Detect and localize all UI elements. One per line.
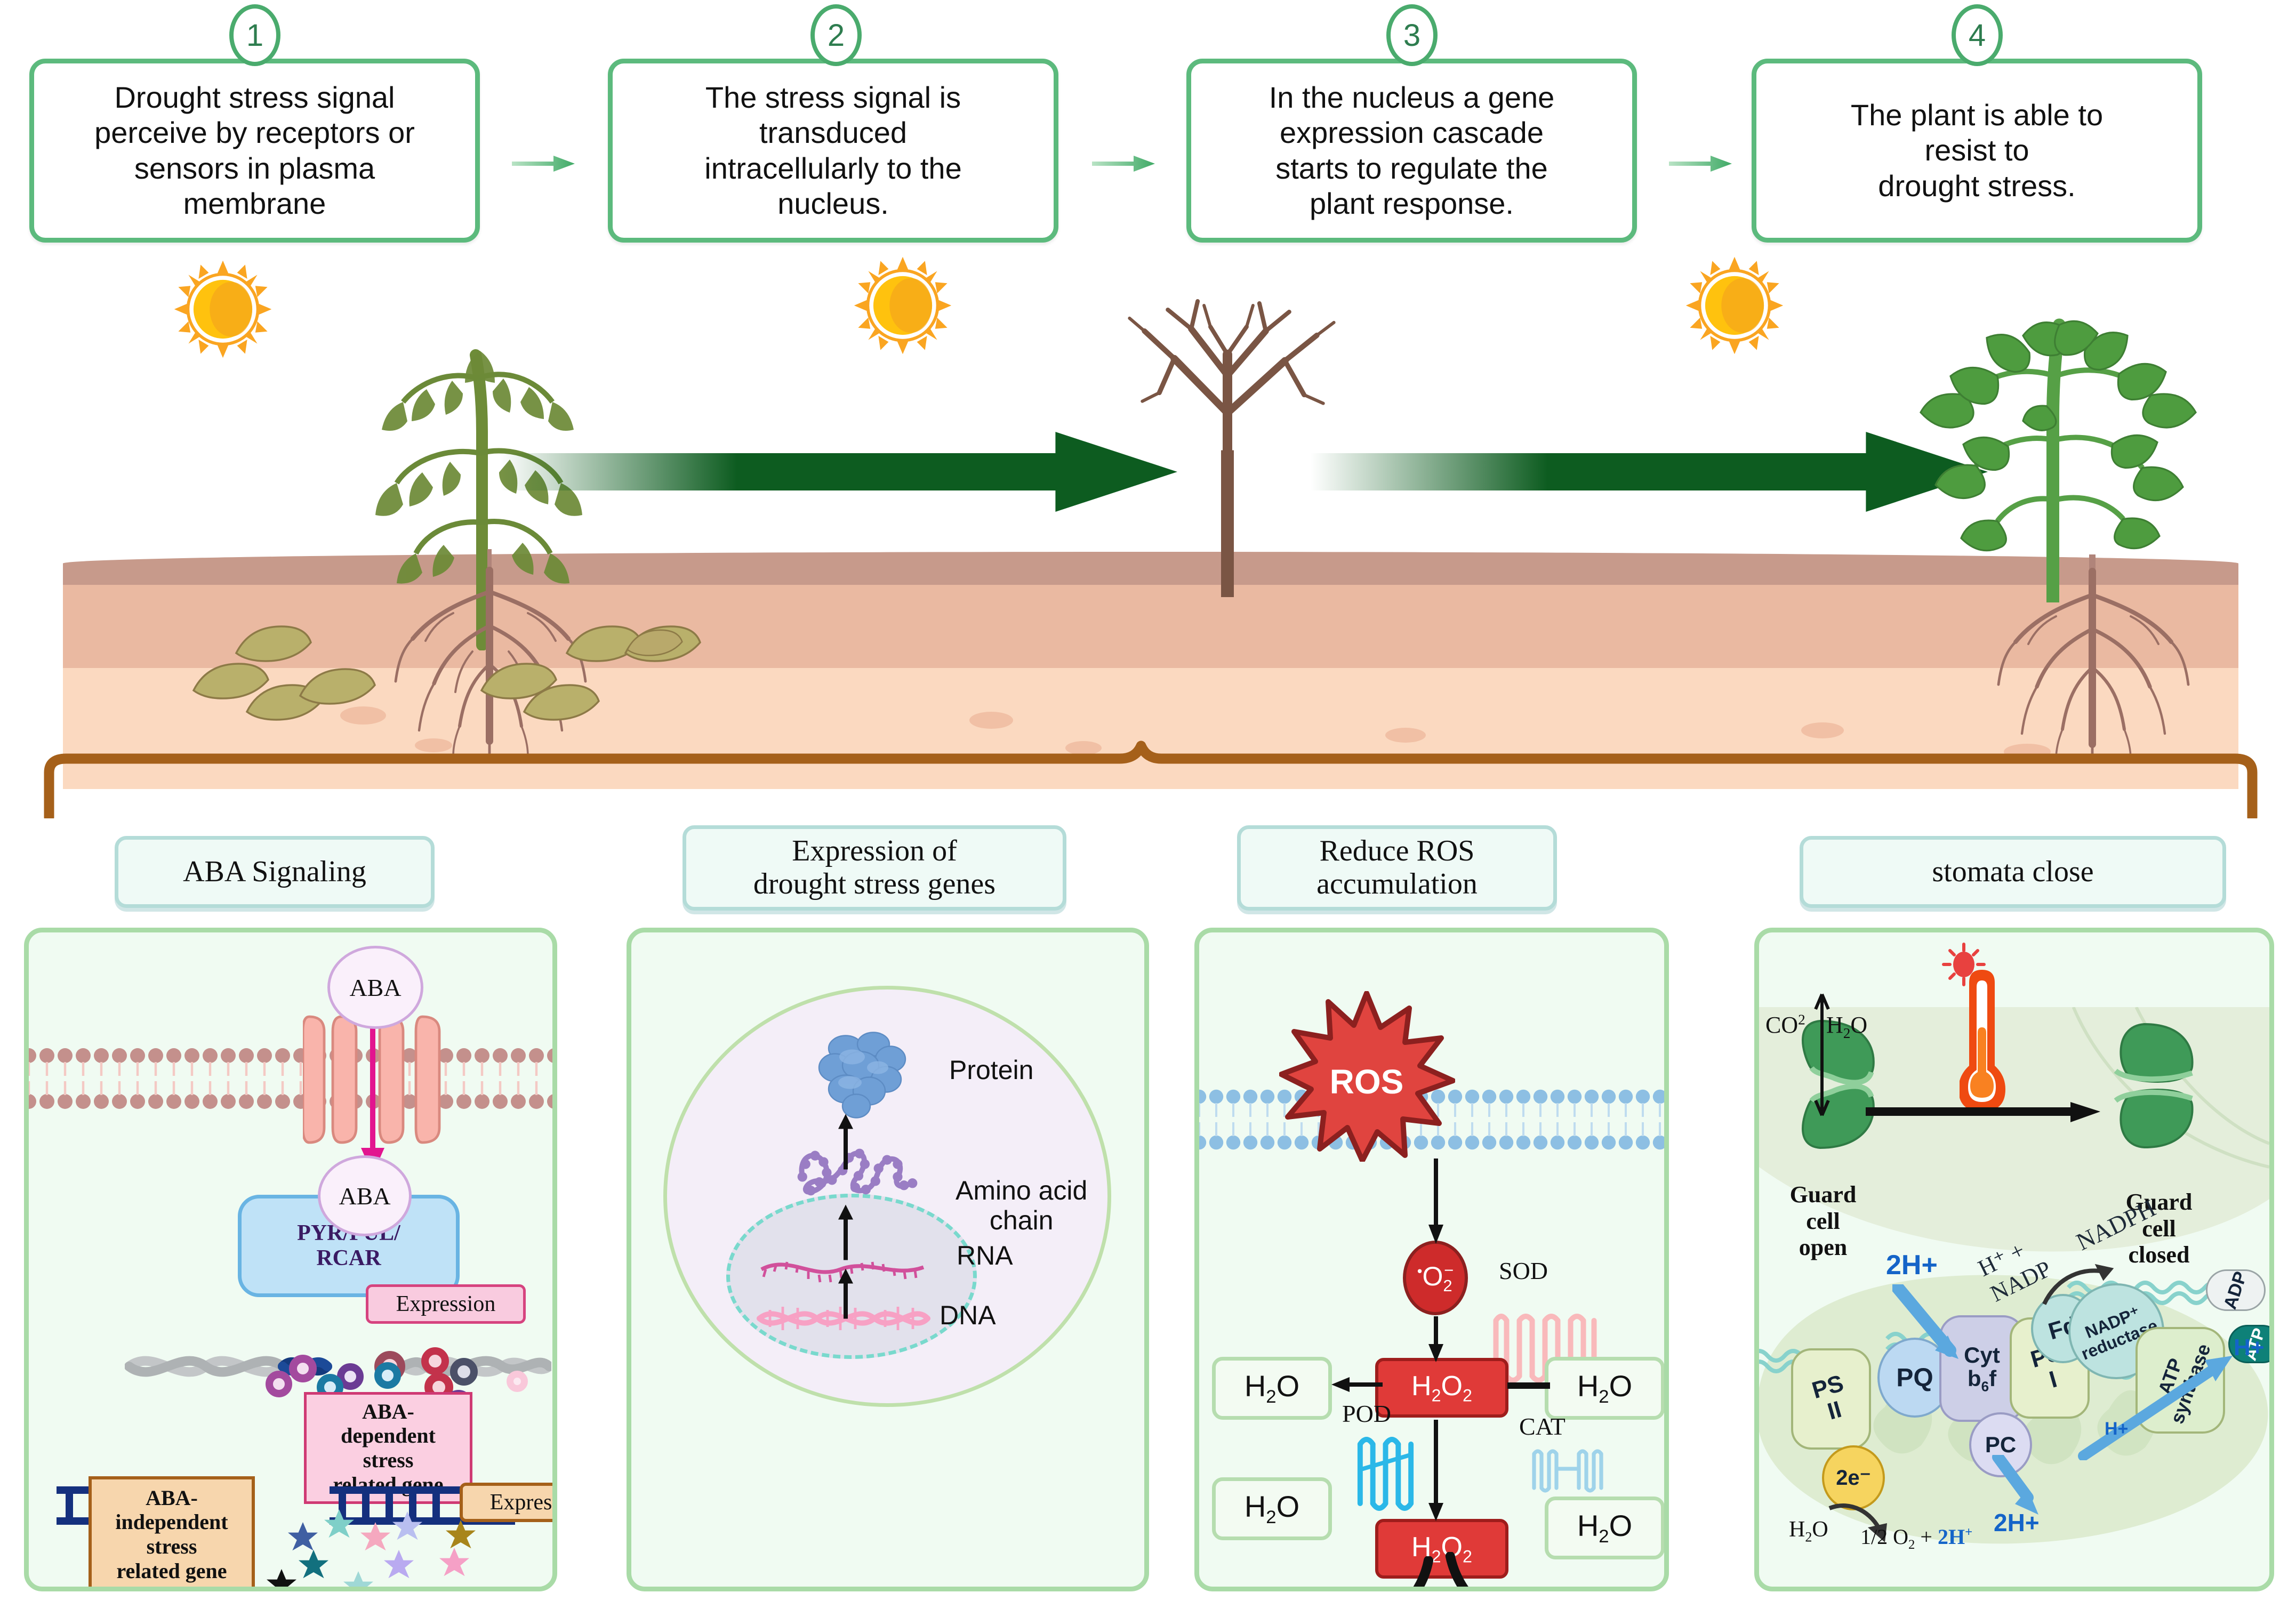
h2o-label: H2O	[1245, 1369, 1299, 1407]
proton-2h-label: 2H+	[1886, 1249, 1938, 1281]
proton-export-arrow	[2077, 1354, 2237, 1460]
cat-enzyme-icon	[1528, 1445, 1613, 1493]
gene-label: ABA- independent stress related gene	[115, 1486, 228, 1583]
panel-title-text: Reduce ROS accumulation	[1316, 835, 1478, 900]
recycle-arrow-left	[1258, 1556, 1434, 1591]
root-system-icon	[1966, 554, 2217, 762]
panel-title-reduce-ros[interactable]: Reduce ROS accumulation	[1237, 825, 1557, 911]
aba-label: ABA	[339, 1182, 390, 1210]
panel-title-stomata-close[interactable]: stomata close	[1800, 836, 2226, 908]
molecule-ring	[450, 1358, 478, 1386]
thermometer-icon	[1960, 963, 2005, 1118]
water-split-label: H2O	[1789, 1517, 1828, 1545]
proton-small-label: H+	[2105, 1419, 2128, 1439]
step-text-1: Drought stress signal perceive by recept…	[94, 80, 415, 221]
sun-icon	[1684, 255, 1785, 356]
molecule-ring	[289, 1355, 317, 1382]
molecule-ring	[421, 1347, 449, 1375]
fallen-leaf-icon	[625, 624, 684, 658]
step-connector-arrow-3	[1669, 155, 1733, 173]
protein-label: Protein	[949, 1055, 1033, 1085]
aba-molecule-outside: ABA	[327, 946, 423, 1029]
pod-enzyme-icon	[1350, 1427, 1422, 1515]
panel-title-aba-signaling[interactable]: ABA Signaling	[115, 836, 435, 908]
translation-arrow	[837, 1114, 855, 1170]
pod-label: POD	[1342, 1399, 1391, 1428]
oxygen-output-label: 1/2 O2 + 2H+	[1860, 1524, 1972, 1552]
h2o2-cascade-arrow	[1427, 1420, 1446, 1521]
step-badge-4: 4	[1952, 4, 2003, 66]
ros-to-superoxide-arrow	[1427, 1159, 1446, 1244]
step-text-2: The stress signal is transduced intracel…	[704, 80, 961, 221]
water-box-top-left: H2O	[1212, 1357, 1332, 1420]
proton-import-arrow	[1892, 1284, 1962, 1359]
guard-cell-closed-icon	[2090, 1018, 2199, 1154]
drought-scene	[63, 251, 2238, 789]
water-box-bottom-left: H2O	[1212, 1477, 1332, 1540]
panel-title-text: Expression of drought stress genes	[753, 835, 996, 900]
step-box-3[interactable]: In the nucleus a gene expression cascade…	[1186, 59, 1637, 243]
pod-reaction-arrow	[1331, 1376, 1383, 1394]
transcription-arrow-1	[837, 1204, 855, 1260]
h2o-label: H2O	[1245, 1489, 1299, 1528]
stomata-transition-arrow	[1866, 1102, 2100, 1122]
molecule-ring	[507, 1371, 528, 1392]
step-box-4[interactable]: The plant is able to resist to drought s…	[1752, 59, 2202, 243]
grouping-brace	[43, 738, 2259, 818]
molecule-ring	[266, 1371, 292, 1397]
panel-title-gene-expression[interactable]: Expression of drought stress genes	[683, 825, 1066, 911]
step-number-3: 3	[1403, 18, 1420, 53]
progression-arrow-1	[500, 432, 1177, 512]
guard-cell-open-label: Guard cell open	[1770, 1155, 1876, 1260]
step-number-4: 4	[1969, 18, 1986, 53]
svg-text:ROS: ROS	[1330, 1063, 1404, 1101]
sun-icon	[172, 259, 274, 360]
sun-icon	[852, 255, 953, 356]
step-badge-3: 3	[1386, 4, 1438, 66]
panel-title-text: stomata close	[1932, 856, 2093, 889]
amino-acid-chain-icon	[791, 1132, 925, 1204]
expression-label: Expression	[396, 1291, 496, 1317]
water-box-top-right: H2O	[1545, 1357, 1665, 1420]
complex-ps-ii: PS II	[1791, 1348, 1871, 1450]
recycle-arrow-right	[1443, 1552, 1619, 1591]
superoxide-molecule: •O2−	[1403, 1241, 1468, 1315]
step-number-1: 1	[246, 18, 263, 53]
step-box-2[interactable]: The stress signal is transduced intracel…	[608, 59, 1058, 243]
plasma-membrane-icon	[24, 1047, 557, 1110]
nadp-reduction-arrow	[2042, 1258, 2116, 1308]
step-text-3: In the nucleus a gene expression cascade…	[1269, 80, 1555, 221]
adp-molecule: ADP	[2206, 1269, 2266, 1311]
h2o-label: H2O	[1577, 1369, 1632, 1407]
h2o-label: H2O	[1826, 1011, 1867, 1042]
water-box-bottom-right: H2O	[1545, 1497, 1665, 1559]
aba-independent-gene-box: ABA- independent stress related gene	[89, 1476, 255, 1591]
step-text-4: The plant is able to resist to drought s…	[1851, 98, 2103, 203]
step-badge-2: 2	[810, 4, 862, 66]
fallen-leaf-icon	[521, 677, 601, 722]
proton-lumen-arrow	[1992, 1455, 2050, 1519]
fallen-leaf-icon	[298, 661, 378, 706]
protein-star-cluster	[258, 1503, 535, 1591]
step-connector-arrow-1	[512, 155, 576, 173]
cyt-b6f-label: Cytb6f	[1964, 1343, 2000, 1394]
ros-burst-icon: ROS	[1279, 991, 1455, 1162]
step-box-1[interactable]: Drought stress signal perceive by recept…	[29, 59, 480, 243]
amino-acid-chain-label: Amino acid chain	[956, 1146, 1087, 1235]
hydrogen-peroxide-top: H2O2	[1375, 1358, 1508, 1418]
panel-stomata-close: CO2 H2O Guard cell open Guard cell close…	[1754, 928, 2274, 1591]
h2o2-label: H2O2	[1411, 1370, 1472, 1405]
aba-label: ABA	[349, 974, 401, 1002]
aba-molecule-inside: ABA	[318, 1155, 412, 1236]
h2o-label: H2O	[1577, 1508, 1632, 1547]
panel-reduce-ros: ROS •O2− SOD H2O2 H2O2 H2O H2O H2O H2O	[1194, 928, 1669, 1591]
proton-out-label: H+	[2234, 1334, 2264, 1361]
transcription-arrow-2	[837, 1268, 855, 1319]
co2-label: CO2	[1765, 1011, 1805, 1039]
soil-pebble	[969, 712, 1013, 729]
rna-label: RNA	[957, 1241, 1013, 1270]
superoxide-label: •O2−	[1417, 1261, 1454, 1296]
molecule-ring	[374, 1362, 401, 1389]
step-number-2: 2	[828, 18, 845, 53]
dna-label: DNA	[940, 1300, 996, 1330]
expression-badge-pink: Expression	[366, 1284, 526, 1324]
step-connector-arrow-2	[1092, 155, 1156, 173]
panel-title-text: ABA Signaling	[183, 856, 366, 889]
step-badge-1: 1	[229, 4, 280, 66]
panel-aba-signaling: ABA PYR/PUL/ RCAR ABA Expression ABA- de…	[24, 928, 557, 1591]
superoxide-to-h2o2-arrow	[1427, 1316, 1446, 1362]
cat-label: CAT	[1519, 1412, 1566, 1441]
sod-label: SOD	[1499, 1257, 1548, 1285]
cat-reaction-connector	[1507, 1381, 1550, 1390]
protein-blob-icon	[814, 1031, 915, 1119]
soil-pebble	[1801, 722, 1844, 738]
panel-gene-expression: Protein Amino acid chain RNA DNA	[627, 928, 1149, 1591]
